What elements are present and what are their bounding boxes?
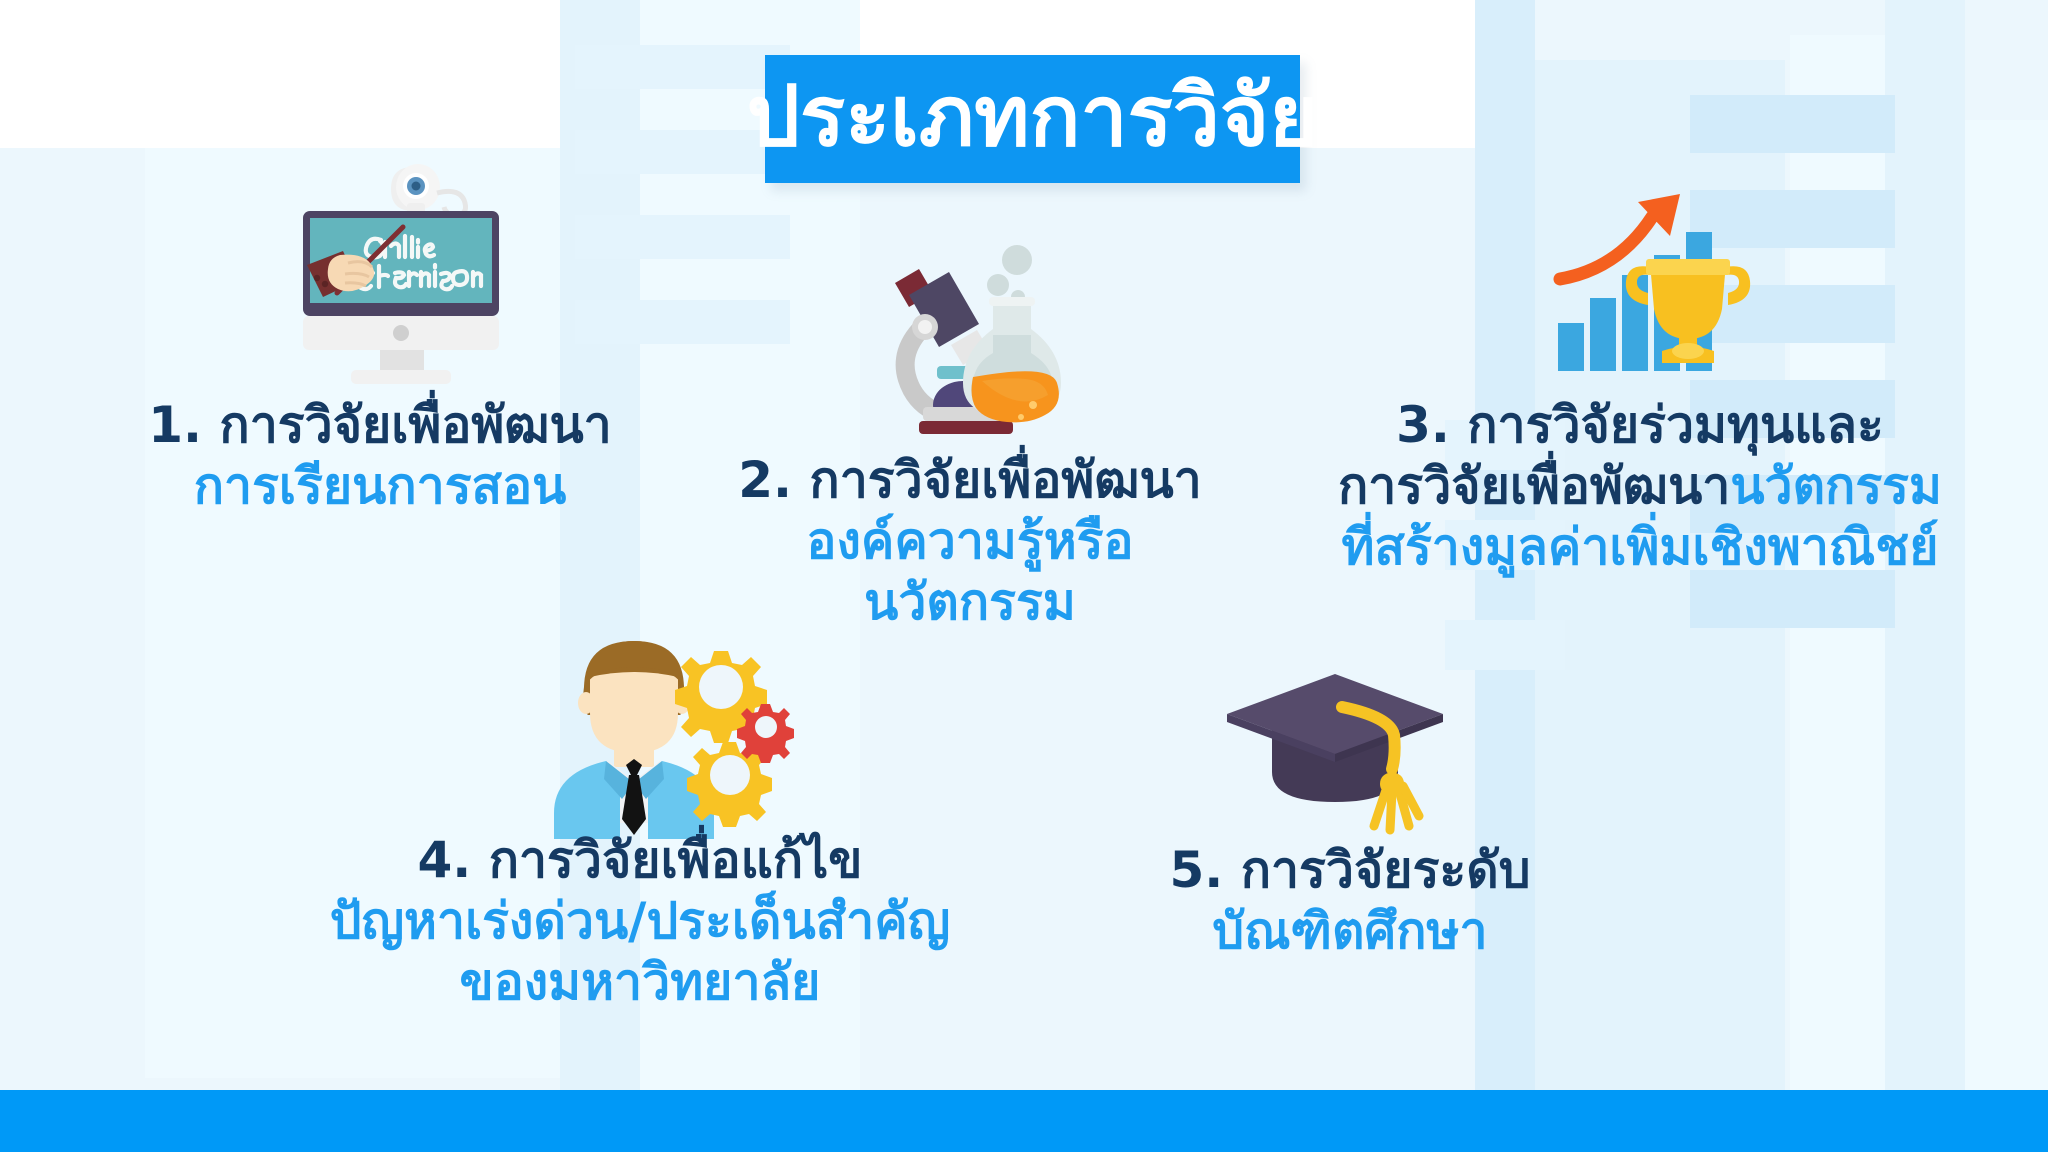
growth-chart-trophy-icon (1540, 175, 1785, 375)
item-1-caption: 1. การวิจัยเพื่อพัฒนา การเรียนการสอน (60, 395, 700, 517)
businessman-gears-icon (540, 625, 775, 840)
item-4-caption: 4. การวิจัยเพื่อแก้ไข ปัญหาเร่งด่วน/ประเ… (270, 830, 1010, 1013)
page-title: ประเภทการวิจัย (747, 74, 1319, 164)
window-shape (575, 300, 790, 344)
item-2-line-3: นวัตกรรม (660, 572, 1280, 633)
item-3-line-2-blue: นวัตกรรม (1730, 457, 1942, 515)
item-3-line-3: ที่สร้างมูลค่าเพิ่มเชิงพาณิชย์ (1290, 517, 1990, 578)
item-1-line-1: 1. การวิจัยเพื่อพัฒนา (60, 395, 700, 456)
item-3-line-2: การวิจัยเพื่อพัฒนานวัตกรรม (1290, 456, 1990, 517)
microscope-flask-icon (865, 235, 1085, 440)
item-2-caption: 2. การวิจัยเพื่อพัฒนา องค์ความรู้หรือ นว… (660, 450, 1280, 633)
item-1-line-2: การเรียนการสอน (60, 456, 700, 517)
bottom-accent-bar (0, 1090, 2048, 1152)
item-3-line-1: 3. การวิจัยร่วมทุนและ (1290, 395, 1990, 456)
item-2-line-1: 2. การวิจัยเพื่อพัฒนา (660, 450, 1280, 511)
online-education-monitor-icon (285, 145, 515, 385)
item-4-line-2: ปัญหาเร่งด่วน/ประเด็นสำคัญ (270, 891, 1010, 952)
item-3-line-2-navy: การวิจัยเพื่อพัฒนา (1338, 457, 1730, 515)
research-type-item-5: 5. การวิจัยระดับ บัณฑิตศึกษา (1080, 840, 1620, 962)
research-type-item-2: 2. การวิจัยเพื่อพัฒนา องค์ความรู้หรือ นว… (660, 450, 1280, 633)
item-4-line-3: ของมหาวิทยาลัย (270, 952, 1010, 1013)
item-2-line-2: องค์ความรู้หรือ (660, 511, 1280, 572)
building-shape (1965, 120, 2048, 1090)
graduation-cap-icon (1220, 660, 1450, 845)
item-5-line-1: 5. การวิจัยระดับ (1080, 840, 1620, 901)
window-shape (1690, 570, 1895, 628)
slide-title-box: ประเภทการวิจัย (765, 55, 1300, 183)
window-shape (575, 215, 790, 259)
research-type-item-3: 3. การวิจัยร่วมทุนและ การวิจัยเพื่อพัฒนา… (1290, 395, 1990, 578)
item-3-caption: 3. การวิจัยร่วมทุนและ การวิจัยเพื่อพัฒนา… (1290, 395, 1990, 578)
window-shape (1690, 95, 1895, 153)
item-5-line-2: บัณฑิตศึกษา (1080, 901, 1620, 962)
window-shape (1445, 620, 1565, 670)
research-type-item-1: 1. การวิจัยเพื่อพัฒนา การเรียนการสอน (60, 395, 700, 517)
item-4-line-1: 4. การวิจัยเพื่อแก้ไข (270, 830, 1010, 891)
item-5-caption: 5. การวิจัยระดับ บัณฑิตศึกษา (1080, 840, 1620, 962)
research-type-item-4: 4. การวิจัยเพื่อแก้ไข ปัญหาเร่งด่วน/ประเ… (270, 830, 1010, 1013)
slide-canvas: ประเภทการวิจัย (0, 0, 2048, 1152)
